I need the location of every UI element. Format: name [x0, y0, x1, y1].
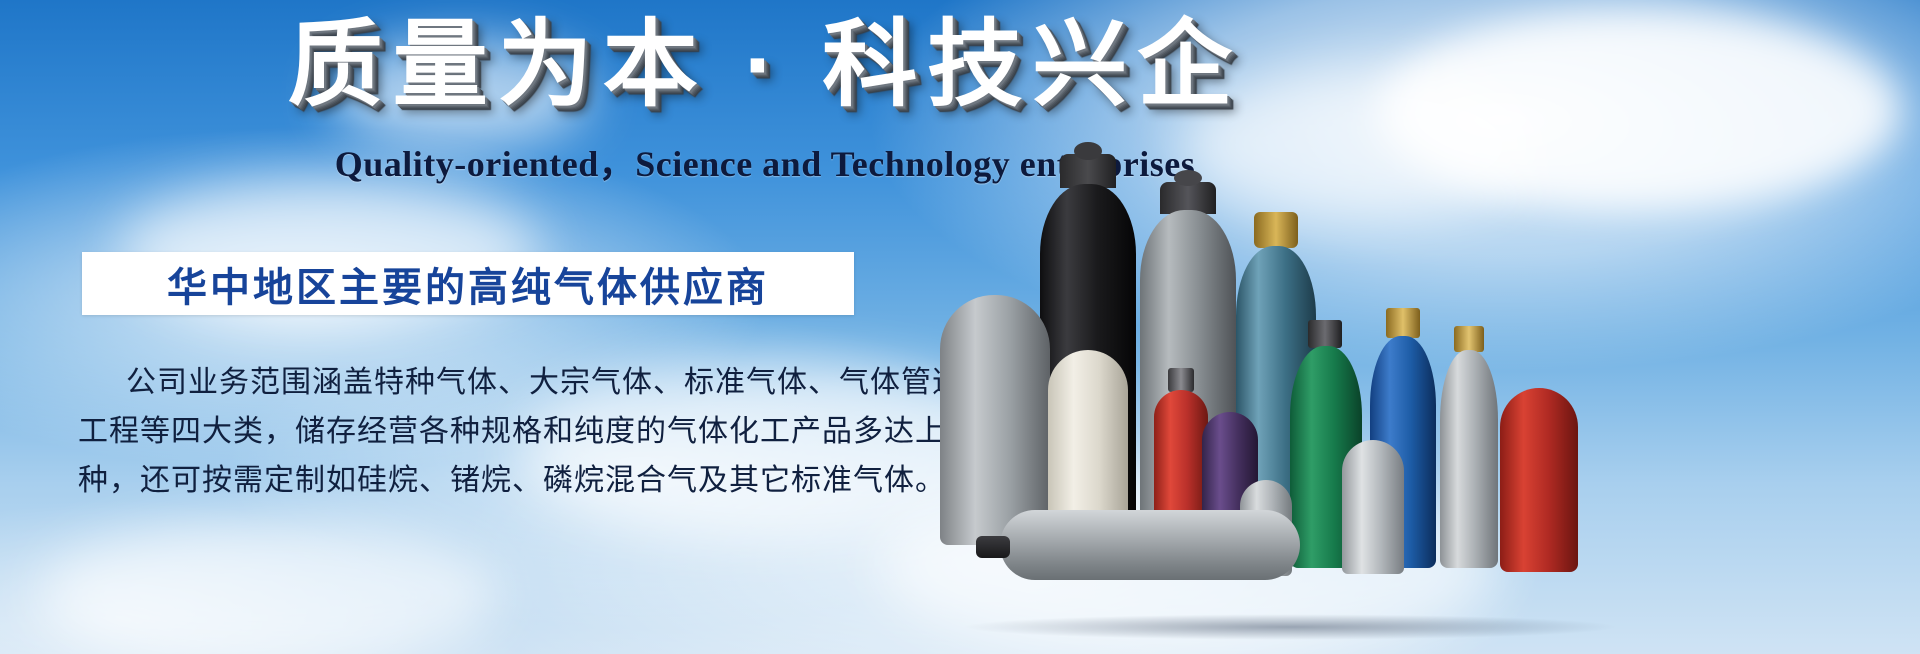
promotional-banner: 质量为本 · 科技兴企 Quality-oriented，Science and… [0, 0, 1920, 654]
cylinder-valve [1454, 326, 1484, 352]
cylinder-ground-shadow [960, 614, 1620, 640]
cylinder-horizontal-grey [1000, 510, 1300, 580]
cylinder-grey-large-left [940, 295, 1050, 545]
cylinder-body [1440, 350, 1498, 568]
cylinder-body [940, 295, 1050, 545]
page-title: 质量为本 · 科技兴企 [288, 16, 1242, 116]
cloud-shape [40, 520, 500, 654]
cylinder-red-large-right [1500, 388, 1578, 572]
cylinder-aluminium-slim [1440, 350, 1498, 568]
cylinder-valve [1386, 308, 1420, 338]
body-line: 工程等四大类，储存经营各种规格和纯度的气体化工产品多达上百 [78, 407, 868, 456]
cylinder-horizontal-valve [976, 536, 1010, 558]
highlight-text: 华中地区主要的高纯气体供应商 [167, 255, 769, 313]
cylinder-valve [1254, 212, 1298, 248]
cylinder-body [1342, 440, 1404, 574]
body-line: 种，还可按需定制如硅烷、锗烷、磷烷混合气及其它标准气体。 [78, 456, 868, 505]
gas-cylinder-group-image [940, 150, 1920, 654]
body-copy: 公司业务范围涵盖特种气体、大宗气体、标准气体、气体管道 工程等四大类，储存经营各… [78, 358, 868, 505]
headline-container: 质量为本 · 科技兴企 [0, 16, 1530, 116]
cylinder-valve [1168, 368, 1194, 392]
body-line: 公司业务范围涵盖特种气体、大宗气体、标准气体、气体管道 [78, 358, 868, 407]
cylinder-body [1500, 388, 1578, 572]
cylinder-handle [1174, 170, 1202, 186]
cylinder-handle [1074, 142, 1102, 160]
cylinder-valve [1308, 320, 1342, 348]
highlight-box: 华中地区主要的高纯气体供应商 [82, 252, 854, 315]
cylinder-aluminium-short [1342, 440, 1404, 574]
